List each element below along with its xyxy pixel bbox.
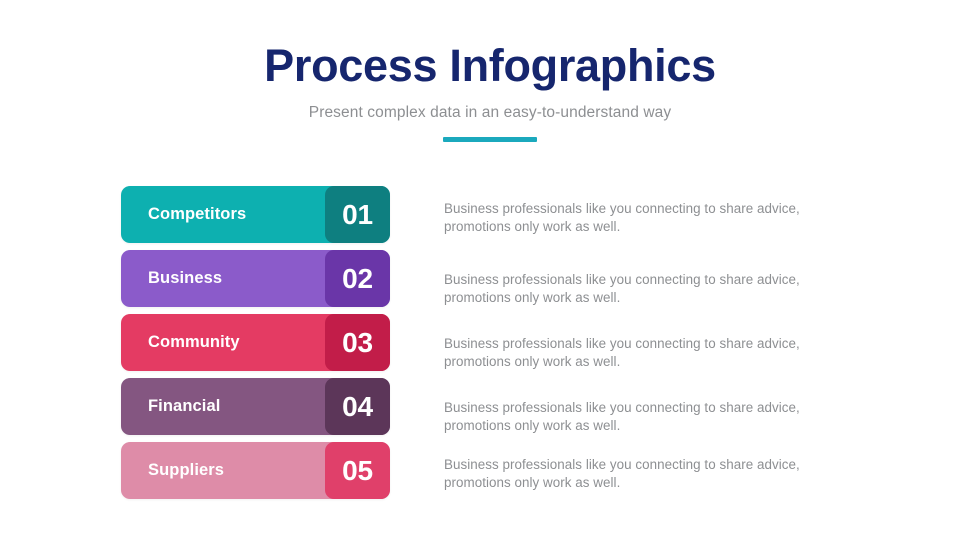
step-bar-suppliers[interactable]: Suppliers 05 — [121, 442, 390, 499]
step-label: Suppliers — [148, 442, 224, 499]
step-bar-business[interactable]: Business 02 — [121, 250, 390, 307]
process-step-row: Community 03 Business professionals like… — [0, 314, 980, 371]
step-number-badge: 05 — [325, 442, 390, 499]
step-label: Community — [148, 314, 240, 371]
process-step-row: Competitors 01 Business professionals li… — [0, 186, 980, 243]
step-number-badge: 03 — [325, 314, 390, 371]
process-step-row: Financial 04 Business professionals like… — [0, 378, 980, 435]
step-number-badge: 04 — [325, 378, 390, 435]
slide-header: Process Infographics Present complex dat… — [0, 0, 980, 142]
process-step-row: Suppliers 05 Business professionals like… — [0, 442, 980, 499]
process-step-list: Competitors 01 Business professionals li… — [0, 186, 980, 506]
step-bar-community[interactable]: Community 03 — [121, 314, 390, 371]
step-description: Business professionals like you connecti… — [444, 456, 852, 492]
step-number-badge: 01 — [325, 186, 390, 243]
slide-canvas: Process Infographics Present complex dat… — [0, 0, 980, 551]
step-bar-financial[interactable]: Financial 04 — [121, 378, 390, 435]
step-description: Business professionals like you connecti… — [444, 335, 852, 371]
step-description: Business professionals like you connecti… — [444, 271, 852, 307]
step-label: Competitors — [148, 186, 246, 243]
process-step-row: Business 02 Business professionals like … — [0, 250, 980, 307]
accent-divider — [443, 137, 537, 142]
step-description: Business professionals like you connecti… — [444, 200, 852, 236]
page-subtitle: Present complex data in an easy-to-under… — [0, 93, 980, 123]
step-number-badge: 02 — [325, 250, 390, 307]
step-label: Financial — [148, 378, 220, 435]
step-bar-competitors[interactable]: Competitors 01 — [121, 186, 390, 243]
page-title: Process Infographics — [0, 0, 980, 93]
step-label: Business — [148, 250, 222, 307]
step-description: Business professionals like you connecti… — [444, 399, 852, 435]
